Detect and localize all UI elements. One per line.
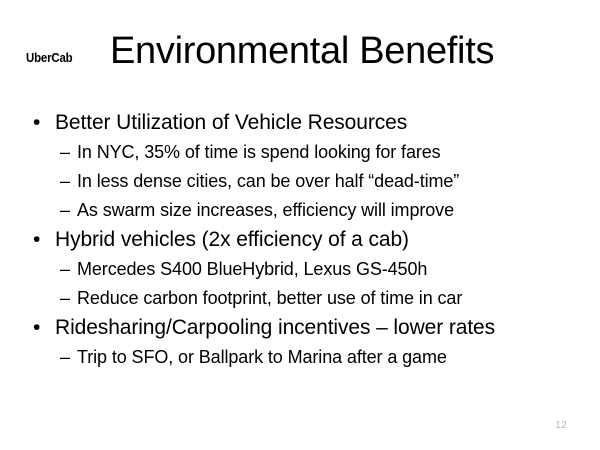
bullet-dash-icon: – bbox=[60, 284, 77, 313]
bullet-item: –In NYC, 35% of time is spend looking fo… bbox=[0, 138, 600, 167]
bullet-item: •Hybrid vehicles (2x efficiency of a cab… bbox=[0, 225, 600, 255]
bullet-text: Mercedes S400 BlueHybrid, Lexus GS-450h bbox=[77, 255, 427, 284]
bullet-item: –Trip to SFO, or Ballpark to Marina afte… bbox=[0, 343, 600, 372]
bullet-item: •Better Utilization of Vehicle Resources bbox=[0, 108, 600, 138]
bullet-dash-icon: – bbox=[60, 343, 77, 372]
slide-header: UberCab Environmental Benefits bbox=[0, 28, 600, 80]
bullet-item: –In less dense cities, can be over half … bbox=[0, 167, 600, 196]
slide-content-list: •Better Utilization of Vehicle Resources… bbox=[0, 108, 600, 372]
bullet-item: •Ridesharing/Carpooling incentives – low… bbox=[0, 313, 600, 343]
bullet-dot-icon: • bbox=[33, 225, 55, 255]
bullet-text: Better Utilization of Vehicle Resources bbox=[55, 108, 407, 138]
ubercab-logo: UberCab bbox=[26, 50, 72, 65]
bullet-dash-icon: – bbox=[60, 167, 77, 196]
presentation-slide: UberCab Environmental Benefits •Better U… bbox=[0, 0, 600, 450]
bullet-text: Ridesharing/Carpooling incentives – lowe… bbox=[55, 313, 495, 343]
bullet-text: Reduce carbon footprint, better use of t… bbox=[77, 284, 462, 313]
slide-title: Environmental Benefits bbox=[110, 28, 494, 74]
bullet-dash-icon: – bbox=[60, 255, 77, 284]
bullet-text: In less dense cities, can be over half “… bbox=[77, 167, 459, 196]
bullet-dash-icon: – bbox=[60, 138, 77, 167]
page-number: 12 bbox=[555, 420, 567, 431]
bullet-dot-icon: • bbox=[33, 313, 55, 343]
bullet-text: As swarm size increases, efficiency will… bbox=[77, 196, 454, 225]
bullet-text: Trip to SFO, or Ballpark to Marina after… bbox=[77, 343, 447, 372]
bullet-item: –Mercedes S400 BlueHybrid, Lexus GS-450h bbox=[0, 255, 600, 284]
bullet-dot-icon: • bbox=[33, 108, 55, 138]
bullet-text: Hybrid vehicles (2x efficiency of a cab) bbox=[55, 225, 409, 255]
bullet-item: –As swarm size increases, efficiency wil… bbox=[0, 196, 600, 225]
bullet-dash-icon: – bbox=[60, 196, 77, 225]
bullet-item: –Reduce carbon footprint, better use of … bbox=[0, 284, 600, 313]
bullet-text: In NYC, 35% of time is spend looking for… bbox=[77, 138, 441, 167]
